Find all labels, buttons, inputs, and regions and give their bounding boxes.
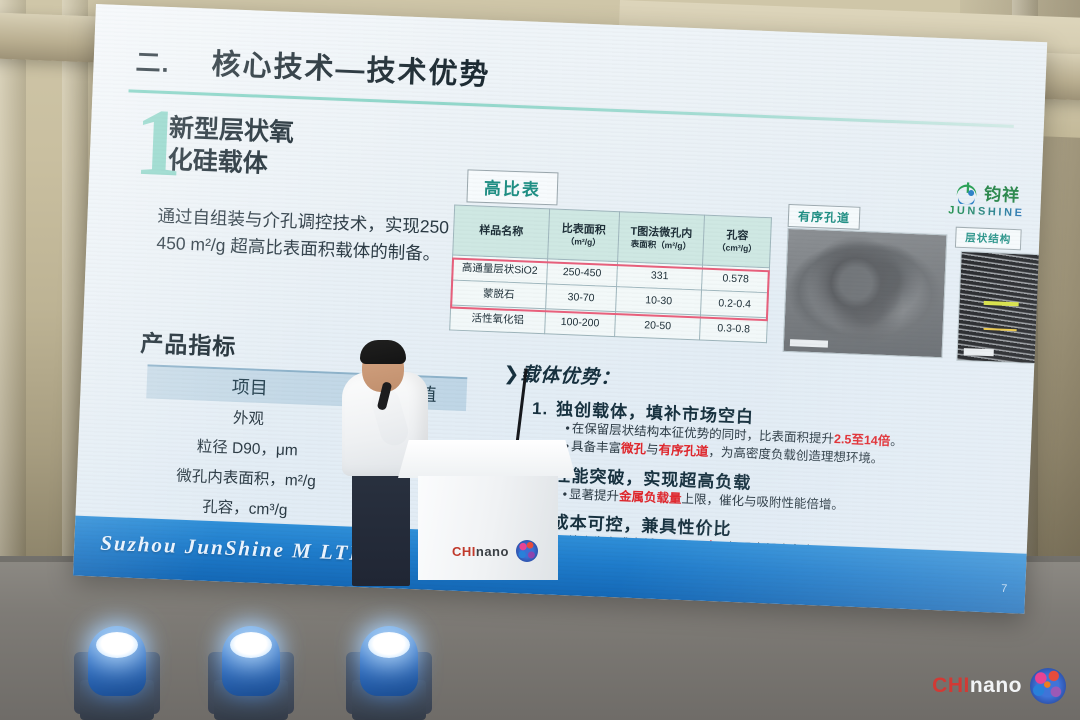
junshine-cn-name: 钧祥 [984, 180, 1021, 206]
footer-company-name: Suzhou JunShine M LTD [100, 531, 367, 567]
stage-light [208, 624, 294, 720]
cell-item: 外观 [145, 402, 352, 432]
podium-body: CHInano [418, 476, 558, 580]
light-lens [96, 632, 138, 658]
chinano-sphere-icon [516, 540, 538, 562]
micrograph-ordered-pores [783, 228, 948, 358]
data-table: 样品名称比表面积（m²/g）T图法微孔内表面积（m²/g）孔容（cm³/g） 高… [449, 205, 772, 344]
chinano-nano: nano [476, 544, 509, 559]
podium-chinano-logo: CHInano [452, 540, 538, 562]
podium-top [398, 440, 576, 478]
col-header: 孔容（cm³/g） [703, 215, 772, 268]
sem-image [957, 252, 1041, 363]
watermark-sphere-icon [1030, 668, 1066, 704]
data-table-body: 高通量层状SiO2250-4503310.578蒙脱石30-7010-300.2… [450, 255, 770, 343]
cell-micro: 331 [616, 262, 703, 290]
lead-title: 新型层状氧 化硅载体 [167, 113, 459, 188]
chinano-chi: CHI [452, 544, 476, 559]
cell-item: 微孔内表面积，m²/g [143, 462, 350, 492]
junshine-logo: 钧祥 JUNSHINE [934, 174, 1040, 224]
slide-section-number: 二. [135, 43, 170, 80]
scale-bar [790, 339, 828, 348]
cell-pore: 0.2-0.4 [701, 290, 769, 318]
cell-ssa: 250-450 [547, 259, 618, 287]
scale-bar [964, 348, 994, 356]
light-lens [368, 632, 410, 658]
cell-sample: 蒙脱石 [451, 280, 547, 309]
col-header-item: 项目 [146, 369, 353, 403]
cell-ssa: 30-70 [546, 284, 617, 312]
slide-header: 二. 核心技术—技术优势 [135, 38, 491, 94]
cell-micro: 10-30 [615, 287, 702, 315]
data-table-tag: 高比表 [466, 169, 558, 205]
cell-pore: 0.3-0.8 [700, 315, 768, 343]
col-header: 比表面积（m²/g） [548, 209, 620, 262]
chinano-wordmark: CHInano [452, 544, 509, 559]
section-title-product-index: 产品指标 [140, 324, 237, 362]
chinano-watermark: CHInano [932, 668, 1066, 704]
col-header: 样品名称 [453, 205, 550, 259]
chevron-right-icon: ❯ [503, 364, 521, 386]
cell-ssa: 100-200 [545, 309, 616, 337]
logo-row: 钧祥 [954, 179, 1021, 207]
junshine-mark-icon [954, 179, 980, 204]
wall-pillar [0, 0, 26, 560]
cell-sample: 高通量层状SiO2 [452, 255, 548, 284]
advantage-item: 1.独创载体，填补市场空白在保留层状结构本征优势的同时，比表面积提升2.5至14… [530, 394, 952, 471]
col-header: T图法微孔内表面积（m²/g） [617, 212, 705, 265]
advantages-title-text: 载体优势： [520, 364, 621, 389]
watermark-chi: CHI [932, 674, 970, 697]
slide-page-number: 7 [1001, 583, 1008, 595]
watermark-wordmark: CHInano [932, 674, 1022, 698]
watermark-nano: nano [970, 674, 1022, 697]
cell-sample: 活性氧化铝 [450, 305, 546, 334]
cell-item: 粒径 D90，μm [144, 432, 351, 462]
micrograph-label-ordered-pores: 有序孔道 [788, 204, 861, 230]
lead-paragraph: 通过自组装与介孔调控技术，实现250 - 450 m²/g 超高比表面积载体的制… [156, 203, 466, 269]
cell-micro: 20-50 [614, 312, 701, 340]
cell-pore: 0.578 [702, 265, 770, 293]
podium: CHInano [398, 440, 576, 580]
micrograph-label-layered-structure: 层状结构 [955, 227, 1022, 251]
tem-image [784, 229, 947, 357]
micrograph-layered-structure [956, 251, 1042, 364]
speaker-hair [360, 340, 406, 364]
stage-light [74, 624, 160, 720]
presentation-photo: 二. 核心技术—技术优势 1 新型层状氧 化硅载体 通过自组装与介孔调控技术，实… [0, 0, 1080, 720]
advantages-title: ❯载体优势： [503, 359, 621, 391]
page-title: 核心技术—技术优势 [211, 41, 491, 94]
cell-item: 孔容，cm³/g [142, 492, 349, 522]
stage-light [346, 624, 432, 720]
junshine-en-name: JUNSHINE [948, 204, 1025, 219]
light-lens [230, 632, 272, 658]
